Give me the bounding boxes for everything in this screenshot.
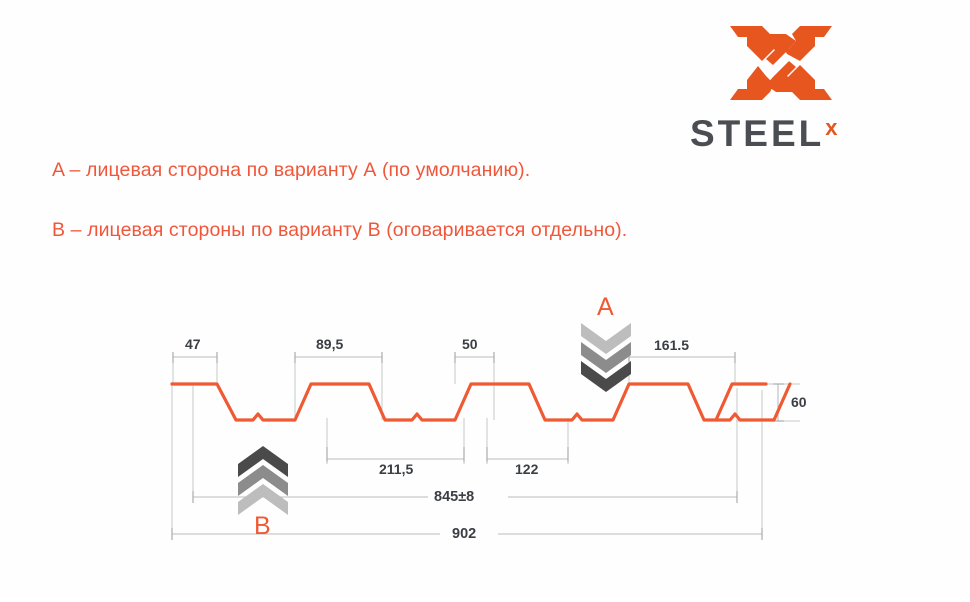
dim-label-122: 122: [515, 461, 538, 477]
marker-a-chevrons: [581, 323, 631, 392]
drawing-svg: [0, 0, 970, 597]
corrugated-profile-path: [172, 384, 790, 420]
dim-label-50: 50: [462, 336, 478, 352]
extension-lines: [172, 352, 800, 534]
dim-label-47: 47: [185, 336, 201, 352]
dim-label-211-5: 211,5: [379, 461, 413, 477]
dim-label-845: 845±8: [434, 489, 474, 505]
marker-b-chevrons: [238, 446, 288, 515]
marker-b-letter: B: [254, 512, 271, 541]
profile-right-tail: [716, 384, 766, 420]
dim-label-902: 902: [452, 526, 476, 542]
dim-label-60: 60: [791, 394, 807, 410]
marker-a-letter: A: [597, 293, 614, 322]
screenshot-root: STEELx A – лицевая сторона по варианту А…: [0, 0, 970, 597]
profile-technical-drawing: 47 89,5 50 161.5 60 211,5 122 845±8 902 …: [0, 0, 970, 597]
dim-label-89-5: 89,5: [316, 336, 343, 352]
dim-label-161-5: 161.5: [654, 337, 689, 353]
